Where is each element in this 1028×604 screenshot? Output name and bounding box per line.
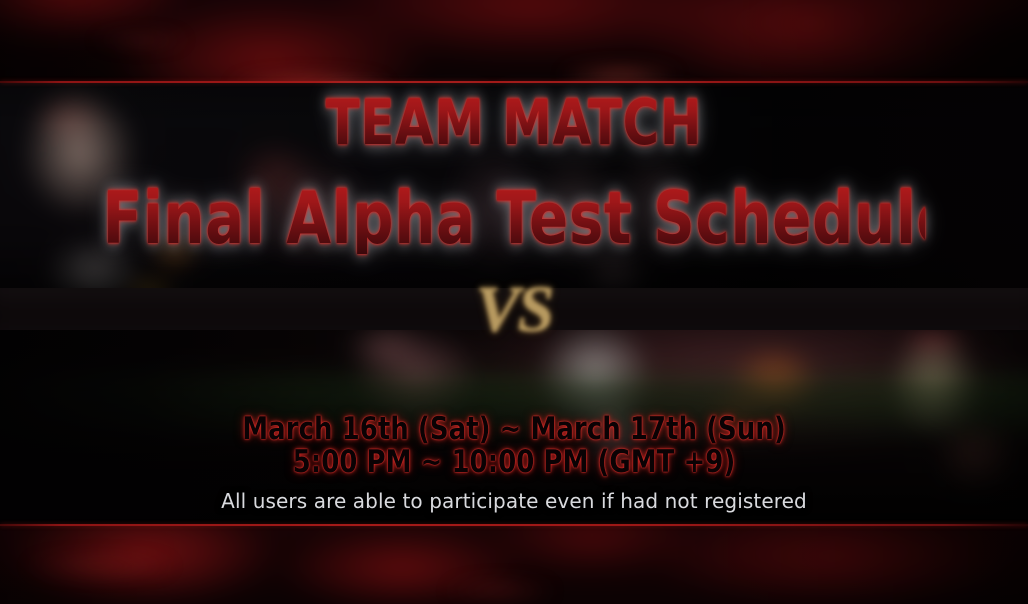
background-band-top [0, 0, 1028, 83]
top-band-vignette [0, 0, 1028, 83]
background-band-bottom [0, 526, 1028, 604]
background-band-upper-characters [0, 83, 1028, 295]
promo-banner: VS TEAM MATCH Final Alpha Test Schedule … [0, 0, 1028, 604]
divider-line-top [0, 81, 1028, 83]
bottom-band-vignette [0, 526, 1028, 604]
lower-band-darkening-overlay [0, 330, 1028, 525]
divider-line-bottom [0, 524, 1028, 526]
upper-band-darkening-overlay [0, 83, 1028, 295]
background-band-lower-characters [0, 330, 1028, 525]
